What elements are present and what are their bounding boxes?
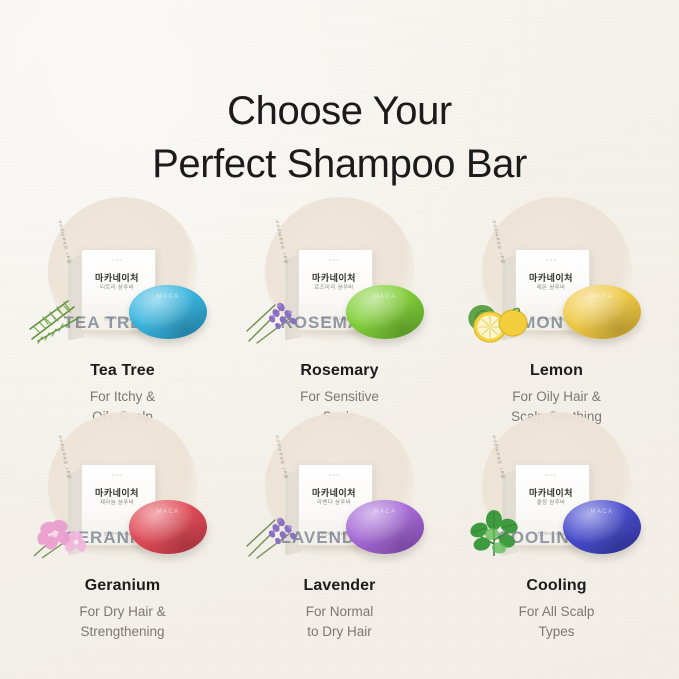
- soap-bar-emboss: MACA: [563, 294, 641, 300]
- product-stage: ~~~ 마카네이처 티트리 샴푸바 천연비누 · 100g Bar Shampo…: [20, 219, 225, 351]
- product-stage: ~~~ 마카네이처 로즈마리 샴푸바 천연비누 · 100g Bar Shamp…: [237, 219, 442, 351]
- product-card-lavender[interactable]: ~~~ 마카네이처 라벤더 샴푸바 천연비누 · 100g Bar Shampo…: [231, 434, 448, 649]
- soap-bar-emboss: MACA: [129, 509, 207, 515]
- shampoo-bar-infographic: Choose Your Perfect Shampoo Bar ~~~ 마카네이…: [0, 0, 679, 679]
- product-description-line-2: Strengthening: [23, 622, 223, 642]
- product-description-line-2: Types: [457, 622, 657, 642]
- product-card-lemon[interactable]: ~~~ 마카네이처 레몬 샴푸바 천연비누 · 100g Bar Shampoo…: [448, 219, 665, 434]
- soap-bar-rosemary: MACA: [346, 285, 424, 339]
- product-card-cooling[interactable]: ~~~ 마카네이처 쿨링 샴푸바 천연비누 · 100g Bar Shampoo…: [448, 434, 665, 649]
- product-description: For Normal to Dry Hair: [240, 602, 440, 641]
- product-description-line-1: For All Scalp: [457, 602, 657, 622]
- product-card-tea-tree[interactable]: ~~~ 마카네이처 티트리 샴푸바 천연비누 · 100g Bar Shampo…: [14, 219, 231, 434]
- soap-bar-emboss: MACA: [346, 294, 424, 300]
- brand-logo-mark: ~~~: [81, 258, 154, 264]
- product-caption: Cooling For All Scalp Types: [457, 576, 657, 641]
- product-card-geranium[interactable]: ~~~ 마카네이처 제라늄 샴푸바 천연비누 · 100g Bar Shampo…: [14, 434, 231, 649]
- product-stage: ~~~ 마카네이처 레몬 샴푸바 천연비누 · 100g Bar Shampoo…: [454, 219, 659, 351]
- soap-bar-emboss: MACA: [346, 509, 424, 515]
- product-name: Lavender: [240, 576, 440, 595]
- product-caption: Geranium For Dry Hair & Strengthening: [23, 576, 223, 641]
- page-title: Choose Your Perfect Shampoo Bar: [0, 27, 679, 192]
- soap-bar-lavender: MACA: [346, 500, 424, 554]
- brand-logo-mark: ~~~: [515, 258, 588, 264]
- brand-logo-mark: ~~~: [81, 473, 154, 479]
- product-description-line-2: to Dry Hair: [240, 622, 440, 642]
- variant-name-kr: 로즈마리 샴푸바: [298, 283, 371, 291]
- variant-name-kr: 레몬 샴푸바: [515, 283, 588, 291]
- product-grid: ~~~ 마카네이처 티트리 샴푸바 천연비누 · 100g Bar Shampo…: [0, 219, 679, 649]
- variant-name-kr: 티트리 샴푸바: [81, 283, 154, 291]
- product-name: Rosemary: [240, 361, 440, 380]
- product-stage: ~~~ 마카네이처 제라늄 샴푸바 천연비누 · 100g Bar Shampo…: [20, 434, 225, 566]
- product-name: Cooling: [457, 576, 657, 595]
- brand-logo-mark: ~~~: [515, 473, 588, 479]
- product-name: Lemon: [457, 361, 657, 380]
- soap-bar-emboss: MACA: [129, 294, 207, 300]
- soap-bar-cooling: MACA: [563, 500, 641, 554]
- product-description-line-1: For Normal: [240, 602, 440, 622]
- variant-name-kr: 쿨링 샴푸바: [515, 498, 588, 506]
- product-caption: Lavender For Normal to Dry Hair: [240, 576, 440, 641]
- product-description: For All Scalp Types: [457, 602, 657, 641]
- soap-bar-lemon: MACA: [563, 285, 641, 339]
- variant-name-kr: 제라늄 샴푸바: [81, 498, 154, 506]
- product-stage: ~~~ 마카네이처 라벤더 샴푸바 천연비누 · 100g Bar Shampo…: [237, 434, 442, 566]
- page-title-line-2: Perfect Shampoo Bar: [0, 138, 679, 192]
- product-card-rosemary[interactable]: ~~~ 마카네이처 로즈마리 샴푸바 천연비누 · 100g Bar Shamp…: [231, 219, 448, 434]
- page-title-line-1: Choose Your: [0, 85, 679, 139]
- product-stage: ~~~ 마카네이처 쿨링 샴푸바 천연비누 · 100g Bar Shampoo…: [454, 434, 659, 566]
- product-description: For Dry Hair & Strengthening: [23, 602, 223, 641]
- soap-bar-tea-tree: MACA: [129, 285, 207, 339]
- variant-name-kr: 라벤더 샴푸바: [298, 498, 371, 506]
- product-description-line-1: For Dry Hair &: [23, 602, 223, 622]
- brand-logo-mark: ~~~: [298, 473, 371, 479]
- product-name: Tea Tree: [23, 361, 223, 380]
- brand-logo-mark: ~~~: [298, 258, 371, 264]
- product-name: Geranium: [23, 576, 223, 595]
- soap-bar-geranium: MACA: [129, 500, 207, 554]
- soap-bar-emboss: MACA: [563, 509, 641, 515]
